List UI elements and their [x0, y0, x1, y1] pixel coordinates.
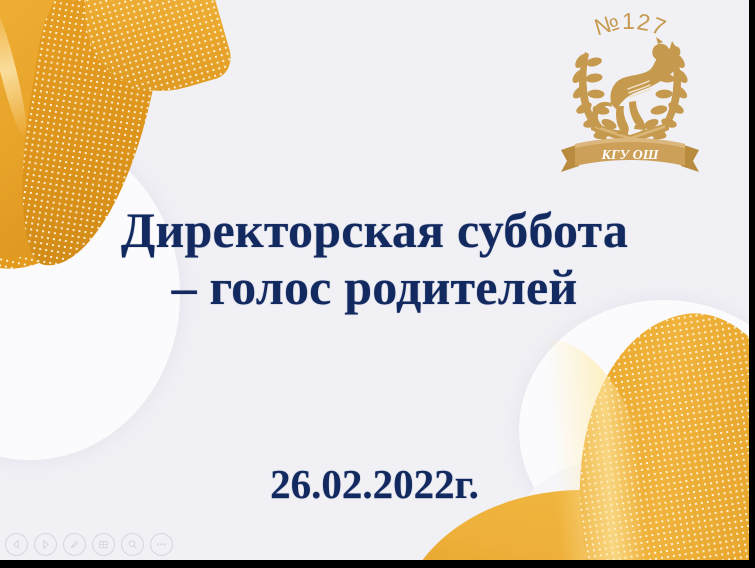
school-emblem: №127	[555, 4, 705, 179]
gold-underlap	[554, 514, 744, 560]
title-line-2: – голос родителей	[34, 259, 715, 316]
pen-annotate-button[interactable]	[63, 533, 86, 556]
background-curve-right	[519, 300, 749, 560]
triangle-left-icon	[11, 539, 22, 550]
slide-canvas[interactable]: №127	[0, 0, 749, 560]
ellipsis-icon: •••	[157, 541, 167, 549]
date-block: 26.02.2022г.	[0, 460, 749, 508]
emblem-banner-text: КГУ ОШ	[600, 148, 659, 163]
magnifier-icon	[127, 539, 138, 550]
bezel-bottom	[0, 560, 755, 568]
triangle-right-icon	[40, 539, 51, 550]
gold-blade-back	[0, 0, 149, 225]
previous-slide-button[interactable]	[5, 533, 28, 556]
gold-crescent-rim	[416, 325, 672, 560]
gold-highlight-sheen	[0, 0, 33, 140]
gold-ribbon-hook	[68, 0, 236, 109]
presentation-stage: №127	[0, 0, 755, 568]
decoration-gold-bottom-right	[439, 340, 749, 560]
next-slide-button[interactable]	[34, 533, 57, 556]
pen-icon	[69, 539, 80, 550]
viewer-toolbar: •••	[5, 533, 173, 556]
more-options-button[interactable]: •••	[150, 533, 173, 556]
title-line-1: Директорская суббота	[34, 202, 715, 259]
bezel-right	[749, 0, 755, 568]
slide-grid-button[interactable]	[92, 533, 115, 556]
zoom-button[interactable]	[121, 533, 144, 556]
slide-date: 26.02.2022г.	[270, 461, 479, 507]
grid-icon	[98, 539, 109, 550]
gold-crescent	[551, 299, 749, 560]
emblem-number-text: №127	[591, 8, 670, 41]
title-block: Директорская суббота – голос родителей	[0, 202, 749, 316]
